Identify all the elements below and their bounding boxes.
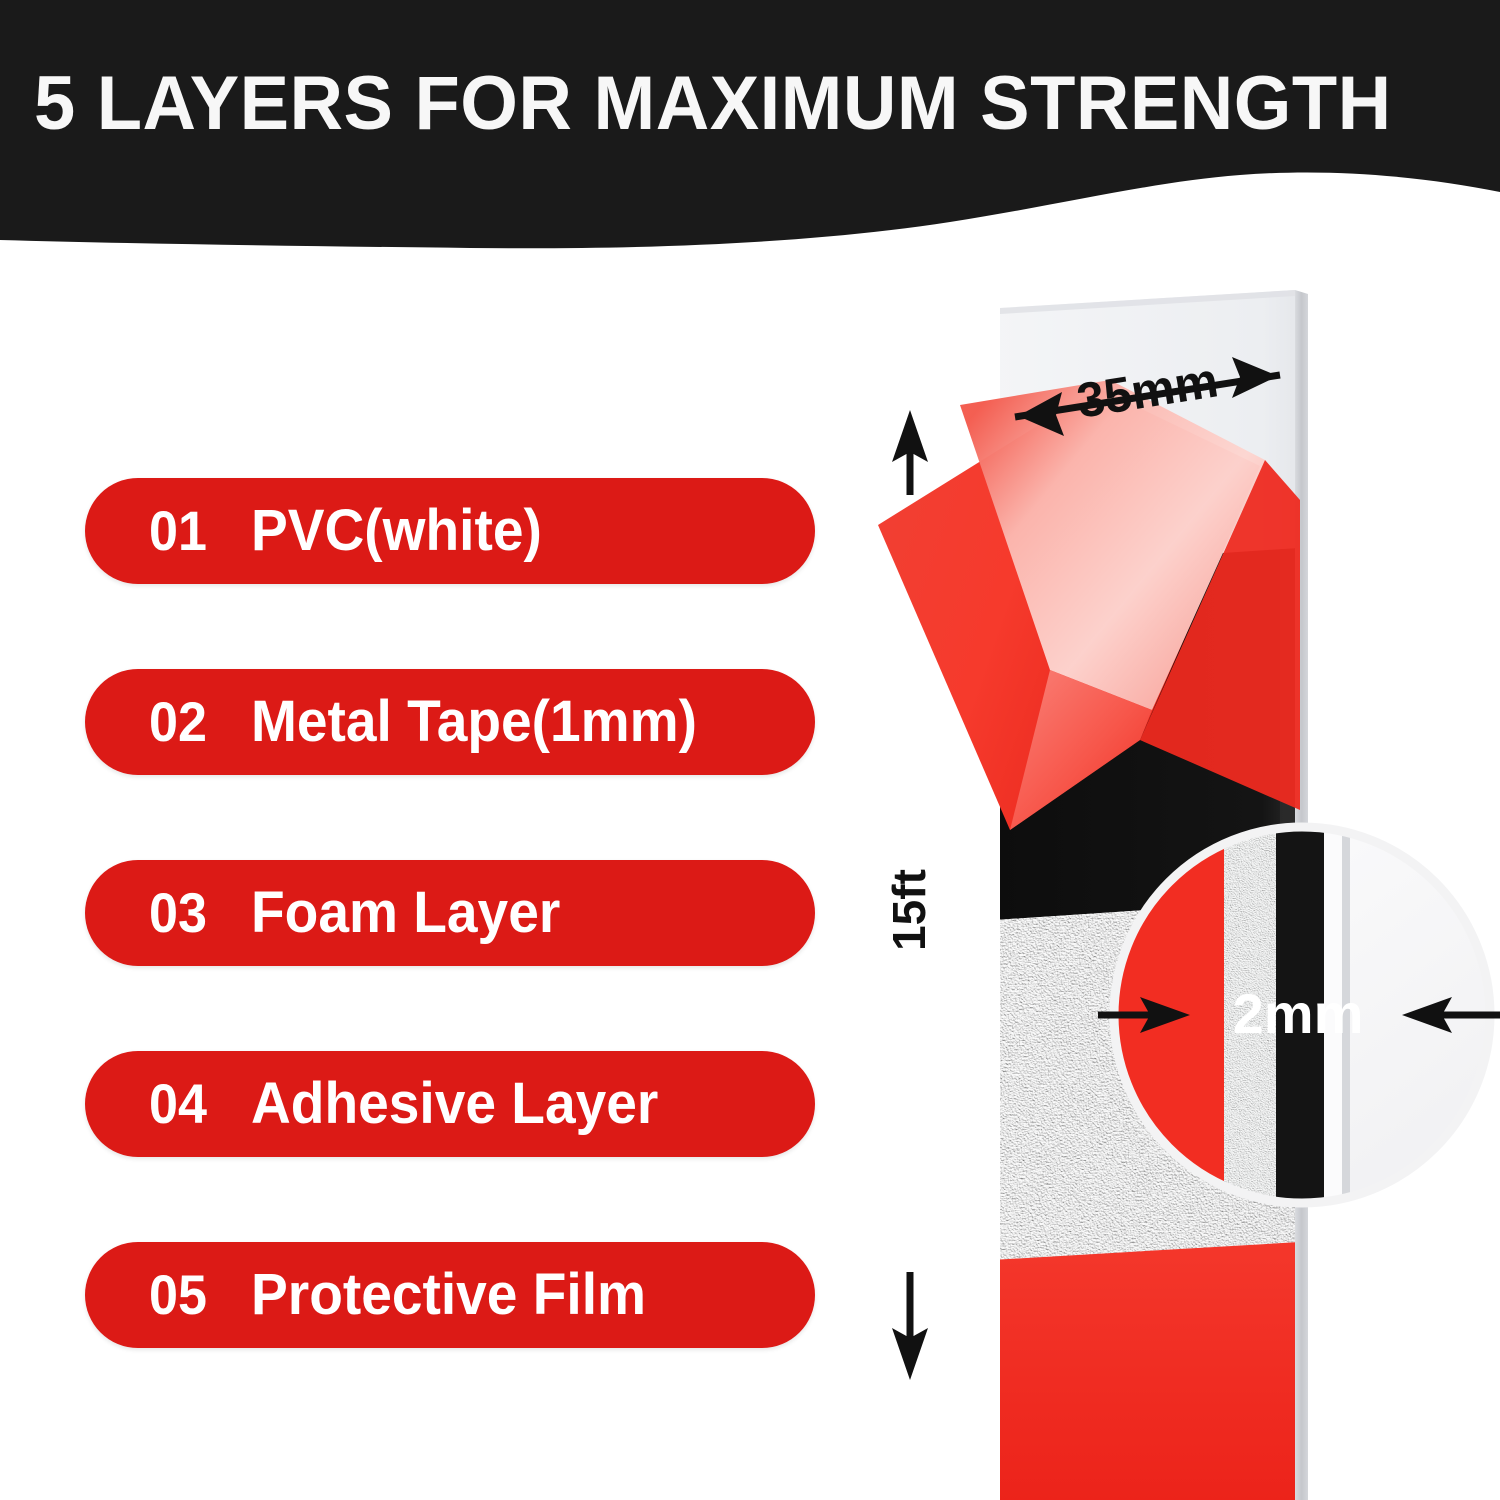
protective-film-face [992,1242,1300,1500]
legend-item-label: Metal Tape(1mm) [251,693,697,751]
page-title: 5 LAYERS FOR MAXIMUM STRENGTH [34,62,1438,146]
legend-item-03[interactable]: 03 Foam Layer [85,860,815,966]
legend-item-label: Protective Film [251,1266,646,1324]
thickness-dim-label: 2mm [1233,982,1364,1045]
legend-item-label: Foam Layer [251,884,560,942]
legend-item-01[interactable]: 01 PVC(white) [85,478,815,584]
legend-item-number: 05 [149,1267,207,1323]
layer-legend-list: 01 PVC(white) 02 Metal Tape(1mm) 03 Foam… [85,478,820,1348]
infographic-canvas: 5 LAYERS FOR MAXIMUM STRENGTH 01 PVC(whi… [0,0,1500,1500]
length-dim-label: 15ft [883,869,935,951]
legend-item-number: 01 [149,503,207,559]
header-banner: 5 LAYERS FOR MAXIMUM STRENGTH [0,0,1500,260]
legend-item-02[interactable]: 02 Metal Tape(1mm) [85,669,815,775]
product-illustration: 35mm 15ft 2mm [840,270,1500,1500]
peeling-protective-film [878,380,1300,830]
legend-item-number: 04 [149,1076,207,1132]
legend-item-05[interactable]: 05 Protective Film [85,1242,815,1348]
legend-item-label: PVC(white) [251,502,542,560]
legend-item-label: Adhesive Layer [251,1075,658,1133]
legend-item-number: 02 [149,694,207,750]
legend-item-number: 03 [149,885,207,941]
legend-item-04[interactable]: 04 Adhesive Layer [85,1051,815,1157]
